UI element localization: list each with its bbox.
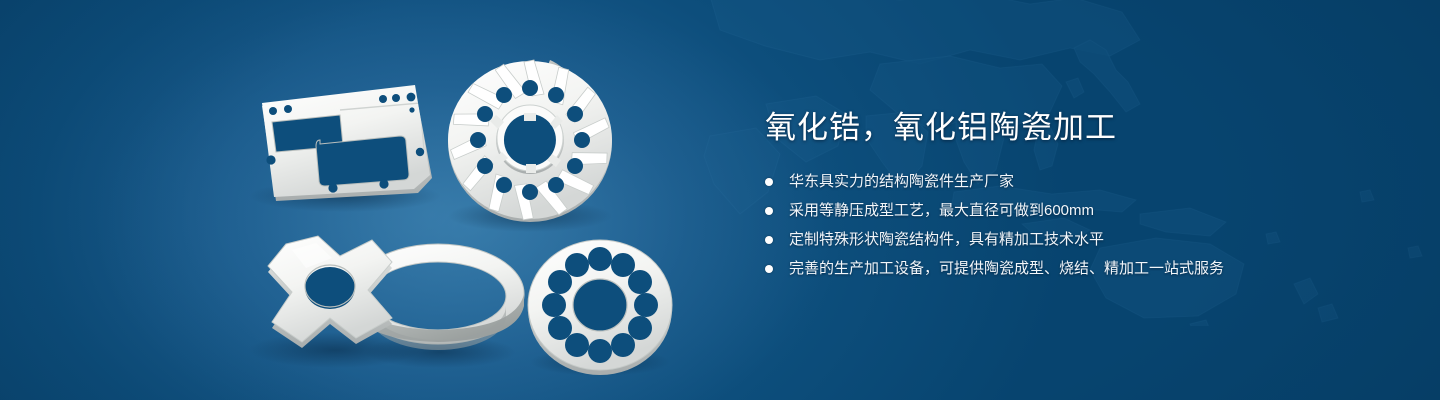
bullet-dot-icon bbox=[765, 178, 773, 186]
bullet-dot-icon bbox=[765, 207, 773, 215]
page-title: 氧化锆，氧化铝陶瓷加工 bbox=[765, 108, 1405, 148]
banner-copy: 氧化锆，氧化铝陶瓷加工 华东具实力的结构陶瓷件生产厂家 采用等静压成型工艺，最大… bbox=[765, 108, 1405, 286]
list-item: 完善的生产加工设备，可提供陶瓷成型、烧结、精加工一站式服务 bbox=[765, 257, 1405, 281]
list-item: 采用等静压成型工艺，最大直径可做到600mm bbox=[765, 199, 1405, 223]
list-item-label: 定制特殊形状陶瓷结构件，具有精加工技术水平 bbox=[789, 228, 1104, 252]
list-item: 定制特殊形状陶瓷结构件，具有精加工技术水平 bbox=[765, 228, 1405, 252]
product-photo-group bbox=[0, 0, 720, 400]
list-item-label: 华东具实力的结构陶瓷件生产厂家 bbox=[789, 170, 1014, 194]
list-item-label: 完善的生产加工设备，可提供陶瓷成型、烧结、精加工一站式服务 bbox=[789, 257, 1224, 281]
ceramic-machined-plate bbox=[262, 85, 432, 201]
list-item: 华东具实力的结构陶瓷件生产厂家 bbox=[765, 170, 1405, 194]
bullet-dot-icon bbox=[765, 265, 773, 273]
hero-banner: 氧化锆，氧化铝陶瓷加工 华东具实力的结构陶瓷件生产厂家 采用等静压成型工艺，最大… bbox=[0, 0, 1440, 400]
bullet-dot-icon bbox=[765, 236, 773, 244]
ceramic-cross-part bbox=[268, 236, 392, 348]
feature-list: 华东具实力的结构陶瓷件生产厂家 采用等静压成型工艺，最大直径可做到600mm 定… bbox=[765, 170, 1405, 281]
ceramic-ported-ring-disc bbox=[528, 240, 672, 375]
list-item-label: 采用等静压成型工艺，最大直径可做到600mm bbox=[789, 199, 1094, 223]
ceramic-impeller-disc bbox=[448, 60, 612, 222]
